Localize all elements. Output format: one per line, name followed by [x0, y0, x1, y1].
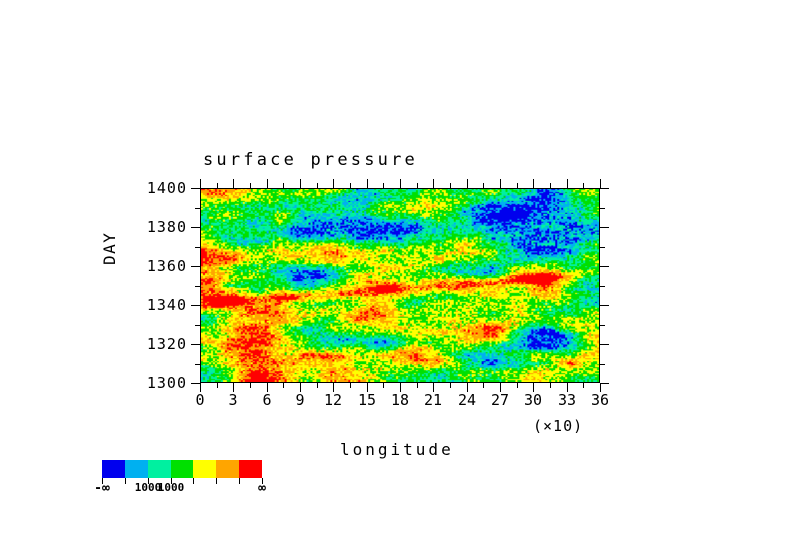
x-minor-tick-bottom	[283, 383, 284, 388]
x-minor-tick-top	[383, 183, 384, 188]
y-major-tick-right	[600, 188, 609, 189]
colorbar-swatch	[148, 460, 171, 478]
y-minor-tick-right	[600, 364, 605, 365]
x-tick-label: 30	[524, 391, 542, 409]
y-major-tick-left	[191, 266, 200, 267]
x-tick-label: 21	[424, 391, 442, 409]
x-minor-tick-bottom	[350, 383, 351, 388]
y-minor-tick-right	[600, 286, 605, 287]
x-minor-tick-top	[317, 183, 318, 188]
heatmap-canvas	[201, 189, 599, 382]
x-axis-multiplier-note: (×10)	[533, 417, 583, 435]
x-minor-tick-bottom	[417, 383, 418, 388]
x-tick-label: 15	[358, 391, 376, 409]
heatmap-plot-area	[200, 188, 600, 383]
y-tick-label: 1340	[125, 296, 187, 314]
y-tick-label: 1380	[125, 218, 187, 236]
y-minor-tick-right	[600, 208, 605, 209]
x-tick-label: 33	[558, 391, 576, 409]
x-tick-label: 27	[491, 391, 509, 409]
y-minor-tick-left	[195, 325, 200, 326]
colorbar-tick-label: ∞	[258, 481, 266, 496]
x-tick-label: 12	[324, 391, 342, 409]
x-major-tick-top	[400, 179, 401, 188]
y-minor-tick-right	[600, 325, 605, 326]
y-minor-tick-left	[195, 286, 200, 287]
colorbar-swatch	[171, 460, 194, 478]
x-major-tick-top	[300, 179, 301, 188]
y-major-tick-left	[191, 344, 200, 345]
x-minor-tick-top	[583, 183, 584, 188]
colorbar-tick	[239, 478, 240, 484]
y-major-tick-right	[600, 227, 609, 228]
x-minor-tick-top	[283, 183, 284, 188]
x-minor-tick-top	[217, 183, 218, 188]
x-tick-label: 18	[391, 391, 409, 409]
x-tick-label: 36	[591, 391, 609, 409]
x-major-tick-top	[433, 179, 434, 188]
y-major-tick-left	[191, 383, 200, 384]
colorbar-swatch	[102, 460, 125, 478]
x-minor-tick-top	[350, 183, 351, 188]
colorbar-swatch	[125, 460, 148, 478]
x-tick-label: 3	[228, 391, 237, 409]
colorbar-tick-label: -∞	[94, 481, 110, 496]
x-minor-tick-bottom	[450, 383, 451, 388]
y-minor-tick-left	[195, 247, 200, 248]
y-major-tick-right	[600, 266, 609, 267]
y-tick-label: 1300	[125, 374, 187, 392]
colorbar-tick	[193, 478, 194, 484]
y-tick-label: 1400	[125, 179, 187, 197]
colorbar-swatch	[239, 460, 262, 478]
x-minor-tick-top	[483, 183, 484, 188]
x-minor-tick-top	[517, 183, 518, 188]
y-major-tick-left	[191, 227, 200, 228]
x-minor-tick-bottom	[250, 383, 251, 388]
y-minor-tick-right	[600, 247, 605, 248]
x-tick-label: 0	[195, 391, 204, 409]
x-major-tick-top	[233, 179, 234, 188]
x-minor-tick-bottom	[550, 383, 551, 388]
x-major-tick-top	[267, 179, 268, 188]
x-minor-tick-bottom	[217, 383, 218, 388]
x-major-tick-top	[600, 179, 601, 188]
y-major-tick-right	[600, 383, 609, 384]
y-axis-title: DAY	[100, 232, 119, 265]
x-tick-label: 24	[458, 391, 476, 409]
y-major-tick-right	[600, 305, 609, 306]
y-minor-tick-left	[195, 364, 200, 365]
y-major-tick-left	[191, 305, 200, 306]
x-minor-tick-bottom	[483, 383, 484, 388]
x-major-tick-top	[333, 179, 334, 188]
y-minor-tick-left	[195, 208, 200, 209]
x-minor-tick-top	[417, 183, 418, 188]
x-minor-tick-bottom	[583, 383, 584, 388]
colorbar-tick	[216, 478, 217, 484]
x-major-tick-top	[467, 179, 468, 188]
y-tick-label: 1320	[125, 335, 187, 353]
y-major-tick-left	[191, 188, 200, 189]
x-minor-tick-bottom	[383, 383, 384, 388]
colorbar-swatch	[193, 460, 216, 478]
x-minor-tick-bottom	[517, 383, 518, 388]
chart-title: surface pressure	[203, 150, 418, 170]
x-major-tick-top	[533, 179, 534, 188]
colorbar	[102, 460, 262, 478]
x-major-tick-top	[500, 179, 501, 188]
x-major-tick-top	[200, 179, 201, 188]
x-minor-tick-top	[550, 183, 551, 188]
x-minor-tick-top	[250, 183, 251, 188]
x-minor-tick-top	[450, 183, 451, 188]
y-major-tick-right	[600, 344, 609, 345]
colorbar-tick-label: 1000	[158, 481, 185, 494]
y-tick-label: 1360	[125, 257, 187, 275]
colorbar-swatch	[216, 460, 239, 478]
x-major-tick-top	[367, 179, 368, 188]
x-minor-tick-bottom	[317, 383, 318, 388]
colorbar-tick	[125, 478, 126, 484]
x-major-tick-top	[567, 179, 568, 188]
x-tick-label: 9	[295, 391, 304, 409]
x-tick-label: 6	[262, 391, 271, 409]
x-axis-title: longitude	[340, 440, 454, 459]
